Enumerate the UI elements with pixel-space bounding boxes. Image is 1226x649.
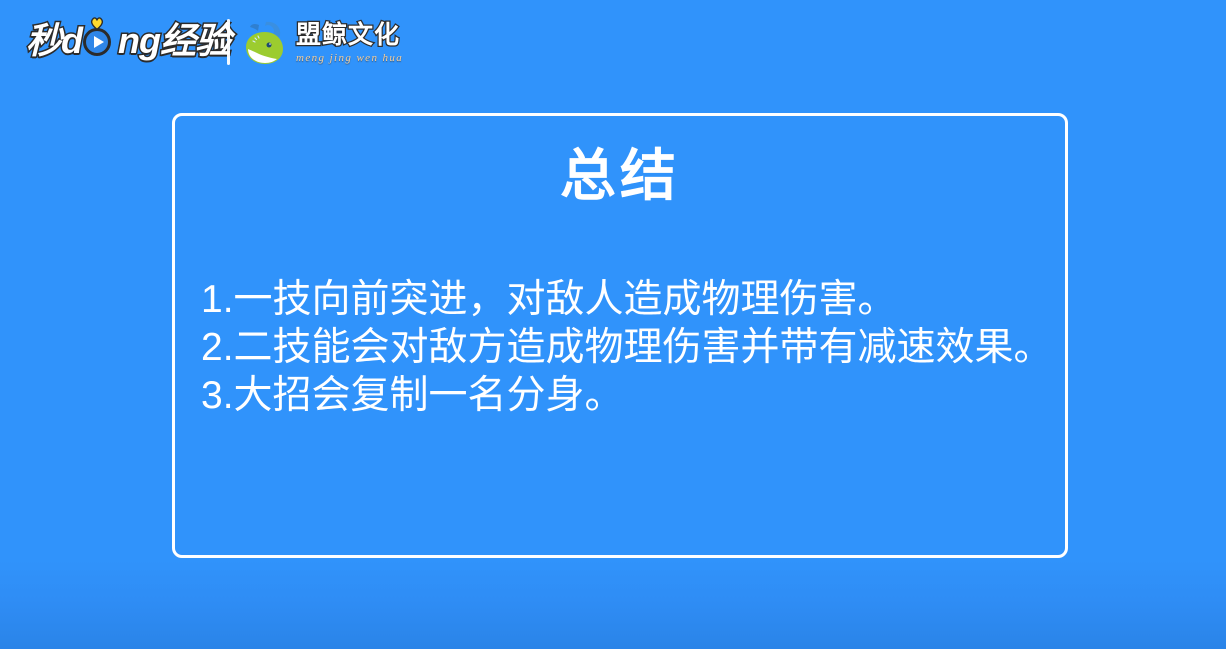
miaodong-jingyan-logo: 秒d ng经验 bbox=[26, 17, 230, 65]
play-triangle-icon bbox=[94, 36, 104, 48]
page-title: 总结 bbox=[175, 144, 1065, 208]
brand-header: 秒d ng经验 盟鲸文化 bbox=[0, 0, 1226, 88]
miaodong-logo-text-right: ng经验 bbox=[118, 19, 230, 63]
list-item: 2.二技能会对敌方造成物理伤害并带有减速效果。 bbox=[201, 324, 1051, 372]
mengjing-subtitle: meng jing wen hua bbox=[296, 51, 403, 65]
mengjing-text-block: 盟鲸文化 meng jing wen hua bbox=[296, 21, 403, 65]
play-circle-heart-icon bbox=[83, 24, 117, 58]
summary-bullet-list: 1.一技向前突进，对敌人造成物理伤害。 2.二技能会对敌方造成物理伤害并带有减速… bbox=[201, 276, 1051, 420]
mengjing-wenhua-logo: 盟鲸文化 meng jing wen hua bbox=[240, 14, 403, 72]
mengjing-title: 盟鲸文化 bbox=[296, 21, 403, 50]
whale-icon bbox=[240, 18, 290, 68]
summary-card: 总结 1.一技向前突进，对敌人造成物理伤害。 2.二技能会对敌方造成物理伤害并带… bbox=[172, 113, 1068, 558]
miaodong-logo-text-left: 秒d bbox=[26, 19, 82, 63]
slide-root: 秒d ng经验 盟鲸文化 bbox=[0, 0, 1226, 649]
heart-icon bbox=[90, 17, 104, 30]
list-item: 1.一技向前突进，对敌人造成物理伤害。 bbox=[201, 276, 1051, 324]
list-item: 3.大招会复制一名分身。 bbox=[201, 372, 1051, 420]
brand-divider bbox=[227, 19, 230, 65]
